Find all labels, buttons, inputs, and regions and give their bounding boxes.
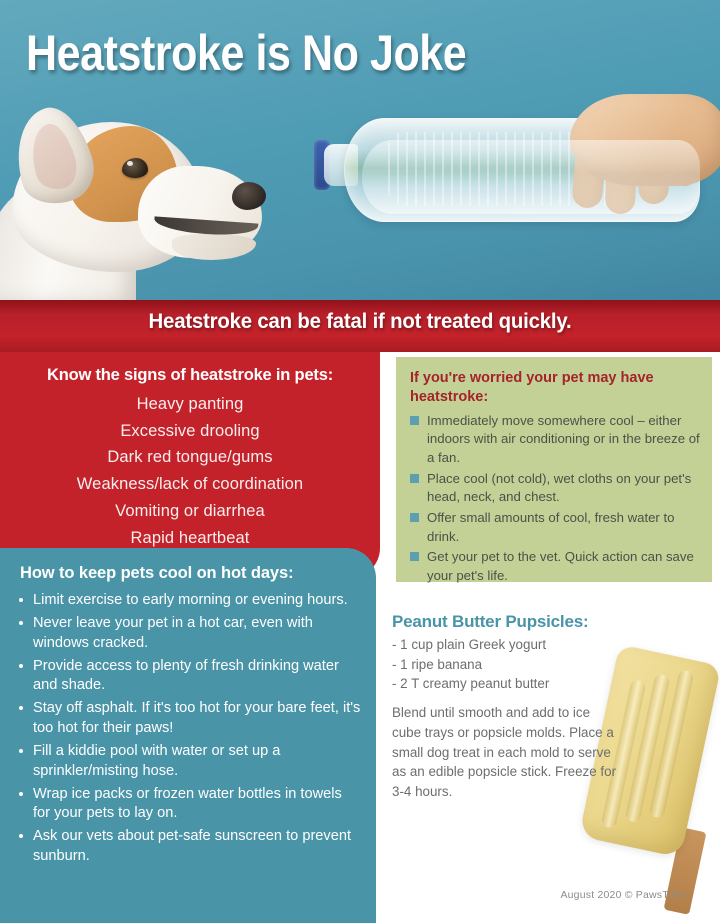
dot-bullet-icon (19, 664, 23, 668)
recipe-title: Peanut Butter Pupsicles: (392, 612, 622, 632)
list-item: Heavy panting (0, 391, 380, 418)
dog-photo (0, 108, 286, 310)
list-item: Dark red tongue/gums (0, 444, 380, 471)
list-item: Vomiting or diarrhea (0, 498, 380, 525)
worried-panel: If you're worried your pet may have heat… (396, 357, 712, 582)
list-item: Limit exercise to early morning or eveni… (12, 591, 362, 611)
list-item-label: Wrap ice packs or frozen water bottles i… (33, 786, 342, 822)
list-item: - 1 ripe banana (392, 655, 622, 675)
signs-panel-title: Know the signs of heatstroke in pets: (0, 352, 380, 389)
infographic-page: Heatstroke is No Joke Heatstroke can be … (0, 0, 720, 923)
square-bullet-icon (410, 552, 419, 561)
fatal-warning-banner: Heatstroke can be fatal if not treated q… (0, 300, 720, 352)
recipe-ingredients: - 1 cup plain Greek yogurt - 1 ripe bana… (392, 635, 622, 694)
list-item-label: Get your pet to the vet. Quick action ca… (427, 549, 694, 583)
list-item-label: Never leave your pet in a hot car, even … (33, 615, 313, 651)
list-item: - 2 T creamy peanut butter (392, 674, 622, 694)
list-item: Excessive drooling (0, 418, 380, 445)
list-item-label: Place cool (not cold), wet cloths on you… (427, 471, 691, 505)
list-item-label: Limit exercise to early morning or eveni… (33, 592, 348, 608)
list-item-label: Fill a kiddie pool with water or set up … (33, 743, 280, 779)
worried-panel-title: If you're worried your pet may have heat… (410, 369, 700, 408)
square-bullet-icon (410, 474, 419, 483)
dot-bullet-icon (19, 621, 23, 625)
hand (526, 94, 720, 222)
keep-cool-panel-title: How to keep pets cool on hot days: (20, 564, 362, 583)
dog-eye (122, 158, 148, 178)
list-item: Place cool (not cold), wet cloths on you… (410, 470, 700, 507)
list-item-label: Stay off asphalt. If it's too hot for yo… (33, 700, 360, 736)
list-item: Fill a kiddie pool with water or set up … (12, 742, 362, 782)
signs-list: Heavy panting Excessive drooling Dark re… (0, 391, 380, 551)
list-item: - 1 cup plain Greek yogurt (392, 635, 622, 655)
dog-nose (232, 182, 266, 210)
footer-credit: August 2020 © PawsTime (0, 889, 686, 901)
list-item: Stay off asphalt. If it's too hot for yo… (12, 699, 362, 739)
worried-list: Immediately move somewhere cool – either… (410, 412, 700, 585)
dot-bullet-icon (19, 834, 23, 838)
dot-bullet-icon (19, 792, 23, 796)
list-item-label: Provide access to plenty of fresh drinki… (33, 658, 339, 694)
dot-bullet-icon (19, 598, 23, 602)
keep-cool-list: Limit exercise to early morning or eveni… (12, 591, 362, 867)
list-item: Never leave your pet in a hot car, even … (12, 614, 362, 654)
signs-panel: Know the signs of heatstroke in pets: He… (0, 352, 380, 578)
list-item: Ask our vets about pet-safe sunscreen to… (12, 827, 362, 867)
hero-photo-band: Heatstroke is No Joke (0, 0, 720, 310)
list-item: Wrap ice packs or frozen water bottles i… (12, 785, 362, 825)
list-item: Weakness/lack of coordination (0, 471, 380, 498)
list-item-label: Offer small amounts of cool, fresh water… (427, 510, 675, 544)
square-bullet-icon (410, 513, 419, 522)
list-item: Get your pet to the vet. Quick action ca… (410, 548, 700, 585)
recipe-section: Peanut Butter Pupsicles: - 1 cup plain G… (392, 612, 622, 802)
page-title: Heatstroke is No Joke (26, 28, 466, 78)
list-item: Provide access to plenty of fresh drinki… (12, 657, 362, 697)
fatal-warning-text: Heatstroke can be fatal if not treated q… (11, 310, 709, 334)
dog-chin (172, 234, 256, 260)
list-item: Immediately move somewhere cool – either… (410, 412, 700, 468)
keep-cool-panel: How to keep pets cool on hot days: Limit… (0, 548, 376, 923)
hand-highlight (570, 94, 720, 186)
recipe-instructions: Blend until smooth and add to ice cube t… (392, 703, 622, 802)
dot-bullet-icon (19, 706, 23, 710)
square-bullet-icon (410, 416, 419, 425)
dot-bullet-icon (19, 749, 23, 753)
list-item-label: Immediately move somewhere cool – either… (427, 413, 700, 465)
list-item: Offer small amounts of cool, fresh water… (410, 509, 700, 546)
list-item-label: Ask our vets about pet-safe sunscreen to… (33, 828, 351, 864)
water-bottle-photo (318, 110, 720, 230)
